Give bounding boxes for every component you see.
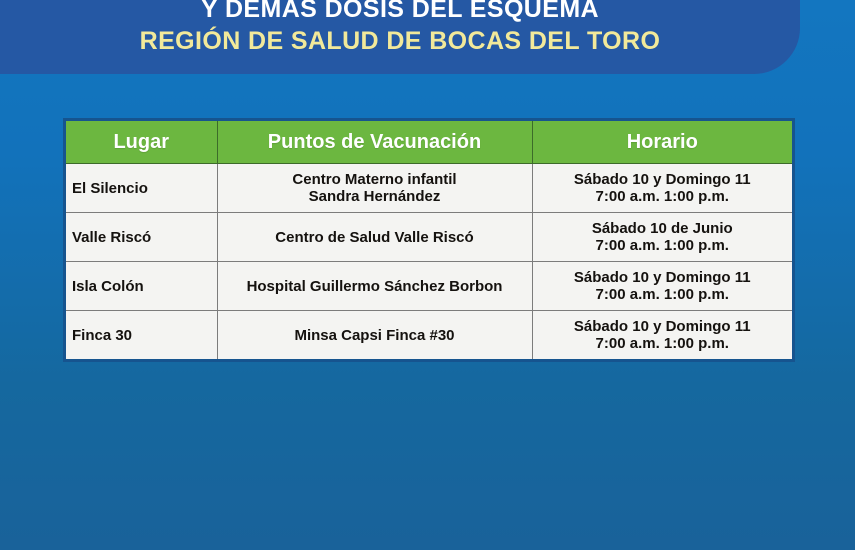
cell-hours-line2: 7:00 a.m. 1:00 p.m. bbox=[539, 286, 787, 303]
cell-hours: Sábado 10 y Domingo 11 7:00 a.m. 1:00 p.… bbox=[532, 262, 792, 311]
table-row: Finca 30 Minsa Capsi Finca #30 Sábado 10… bbox=[66, 311, 792, 360]
page-title-line1: Y DEMÁS DOSIS DEL ESQUEMA bbox=[0, 0, 800, 24]
cell-hours-line2: 7:00 a.m. 1:00 p.m. bbox=[539, 335, 787, 352]
column-header-puntos: Puntos de Vacunación bbox=[217, 121, 532, 164]
cell-place: El Silencio bbox=[66, 164, 217, 213]
header-banner: Y DEMÁS DOSIS DEL ESQUEMA REGIÓN DE SALU… bbox=[0, 0, 800, 74]
page-title-line2: REGIÓN DE SALUD DE BOCAS DEL TORO bbox=[0, 26, 800, 56]
column-header-lugar: Lugar bbox=[66, 121, 217, 164]
table-row: Valle Riscó Centro de Salud Valle Riscó … bbox=[66, 213, 792, 262]
cell-hours-line1: Sábado 10 y Domingo 11 bbox=[539, 171, 787, 188]
cell-hours: Sábado 10 y Domingo 11 7:00 a.m. 1:00 p.… bbox=[532, 311, 792, 360]
cell-hours-line1: Sábado 10 y Domingo 11 bbox=[539, 269, 787, 286]
table-row: El Silencio Centro Materno infantil Sand… bbox=[66, 164, 792, 213]
cell-hours-line2: 7:00 a.m. 1:00 p.m. bbox=[539, 237, 787, 254]
cell-point-line2: Sandra Hernández bbox=[224, 188, 526, 205]
cell-hours: Sábado 10 y Domingo 11 7:00 a.m. 1:00 p.… bbox=[532, 164, 792, 213]
table-header-row: Lugar Puntos de Vacunación Horario bbox=[66, 121, 792, 164]
cell-place: Isla Colón bbox=[66, 262, 217, 311]
column-header-horario: Horario bbox=[532, 121, 792, 164]
cell-point: Centro Materno infantil Sandra Hernández bbox=[217, 164, 532, 213]
cell-place: Finca 30 bbox=[66, 311, 217, 360]
cell-hours-line1: Sábado 10 y Domingo 11 bbox=[539, 318, 787, 335]
cell-point-line1: Minsa Capsi Finca #30 bbox=[224, 327, 526, 344]
table-row: Isla Colón Hospital Guillermo Sánchez Bo… bbox=[66, 262, 792, 311]
cell-hours-line2: 7:00 a.m. 1:00 p.m. bbox=[539, 188, 787, 205]
cell-point: Hospital Guillermo Sánchez Borbon bbox=[217, 262, 532, 311]
cell-hours-line1: Sábado 10 de Junio bbox=[539, 220, 787, 237]
cell-point: Centro de Salud Valle Riscó bbox=[217, 213, 532, 262]
cell-place: Valle Riscó bbox=[66, 213, 217, 262]
cell-hours: Sábado 10 de Junio 7:00 a.m. 1:00 p.m. bbox=[532, 213, 792, 262]
vaccination-schedule-table: Lugar Puntos de Vacunación Horario El Si… bbox=[63, 118, 795, 362]
cell-point-line1: Centro de Salud Valle Riscó bbox=[224, 229, 526, 246]
cell-point-line1: Centro Materno infantil bbox=[224, 171, 526, 188]
cell-point: Minsa Capsi Finca #30 bbox=[217, 311, 532, 360]
cell-point-line1: Hospital Guillermo Sánchez Borbon bbox=[224, 278, 526, 295]
header-banner-text: Y DEMÁS DOSIS DEL ESQUEMA REGIÓN DE SALU… bbox=[0, 0, 800, 56]
